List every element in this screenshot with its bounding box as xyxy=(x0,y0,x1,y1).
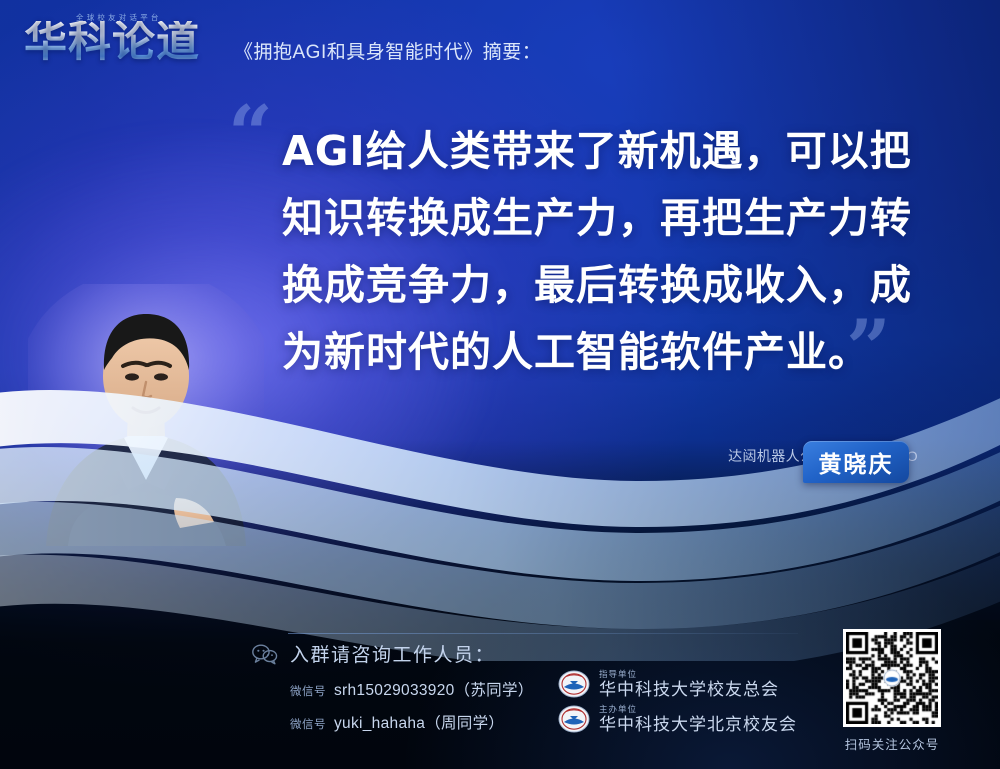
contact-block: 入群请咨询工作人员： 微信号 srh15029033920（苏同学） 微信号 y… xyxy=(252,640,534,733)
wechat-id: srh15029033920（苏同学） xyxy=(334,678,534,700)
organizer-text: 主办单位 华中科技大学北京校友会 xyxy=(599,705,797,734)
footer-divider xyxy=(288,633,798,634)
wechat-icon xyxy=(252,643,278,665)
wechat-label: 微信号 xyxy=(290,683,326,699)
poster-canvas: 全球校友对话平台 华科论道 《拥抱AGI和具身智能时代》摘要： “ AGI给人类… xyxy=(0,0,1000,769)
wechat-label: 微信号 xyxy=(290,716,326,732)
qr-code-icon[interactable] xyxy=(843,629,941,727)
organizer-row: 主办单位 华中科技大学北京校友会 xyxy=(558,705,797,734)
organizer-name: 华中科技大学北京校友会 xyxy=(599,716,797,734)
organizer-kind: 指导单位 xyxy=(599,670,779,679)
organizer-row: 指导单位 华中科技大学校友总会 xyxy=(558,670,797,699)
quote-line: AGI给人类带来了新机遇，可以把 xyxy=(282,118,942,185)
quote-text: AGI给人类带来了新机遇，可以把 知识转换成生产力，再把生产力转 换成竞争力，最… xyxy=(282,118,942,386)
hust-seal-icon xyxy=(558,670,590,698)
organizer-name: 华中科技大学校友总会 xyxy=(599,681,779,699)
page-title: 《拥抱AGI和具身智能时代》摘要： xyxy=(234,37,541,64)
quote-open-mark: “ xyxy=(228,96,273,174)
contact-header: 入群请咨询工作人员： xyxy=(252,640,534,667)
quote-line: 知识转换成生产力，再把生产力转 xyxy=(282,185,942,252)
organizer-kind: 主办单位 xyxy=(599,705,797,714)
contact-row[interactable]: 微信号 srh15029033920（苏同学） xyxy=(290,678,534,700)
quote-close-mark: ” xyxy=(846,310,891,388)
quote-line: 换成竞争力，最后转换成收入，成 xyxy=(282,252,942,319)
hust-seal-icon xyxy=(558,705,590,733)
qr-caption: 扫码关注公众号 xyxy=(843,734,941,753)
header: 全球校友对话平台 华科论道 《拥抱AGI和具身智能时代》摘要： xyxy=(24,12,541,72)
quote-line: 为新时代的人工智能软件产业。 xyxy=(282,319,942,386)
logo-wordmark: 华科论道 xyxy=(24,21,200,64)
contact-title: 入群请咨询工作人员： xyxy=(290,640,495,667)
wechat-id: yuki_hahaha（周同学） xyxy=(334,711,504,733)
organizers: 指导单位 华中科技大学校友总会 主办单位 华中科技大学北京校友会 xyxy=(558,670,797,740)
brand-logo[interactable]: 全球校友对话平台 华科论道 xyxy=(24,12,220,72)
speaker-name: 黄晓庆 xyxy=(819,445,894,479)
contact-row[interactable]: 微信号 yuki_hahaha（周同学） xyxy=(290,711,534,733)
qr-block: 扫码关注公众号 xyxy=(843,629,941,753)
speaker-name-badge: 黄晓庆 xyxy=(803,441,909,483)
organizer-text: 指导单位 华中科技大学校友总会 xyxy=(599,670,779,699)
